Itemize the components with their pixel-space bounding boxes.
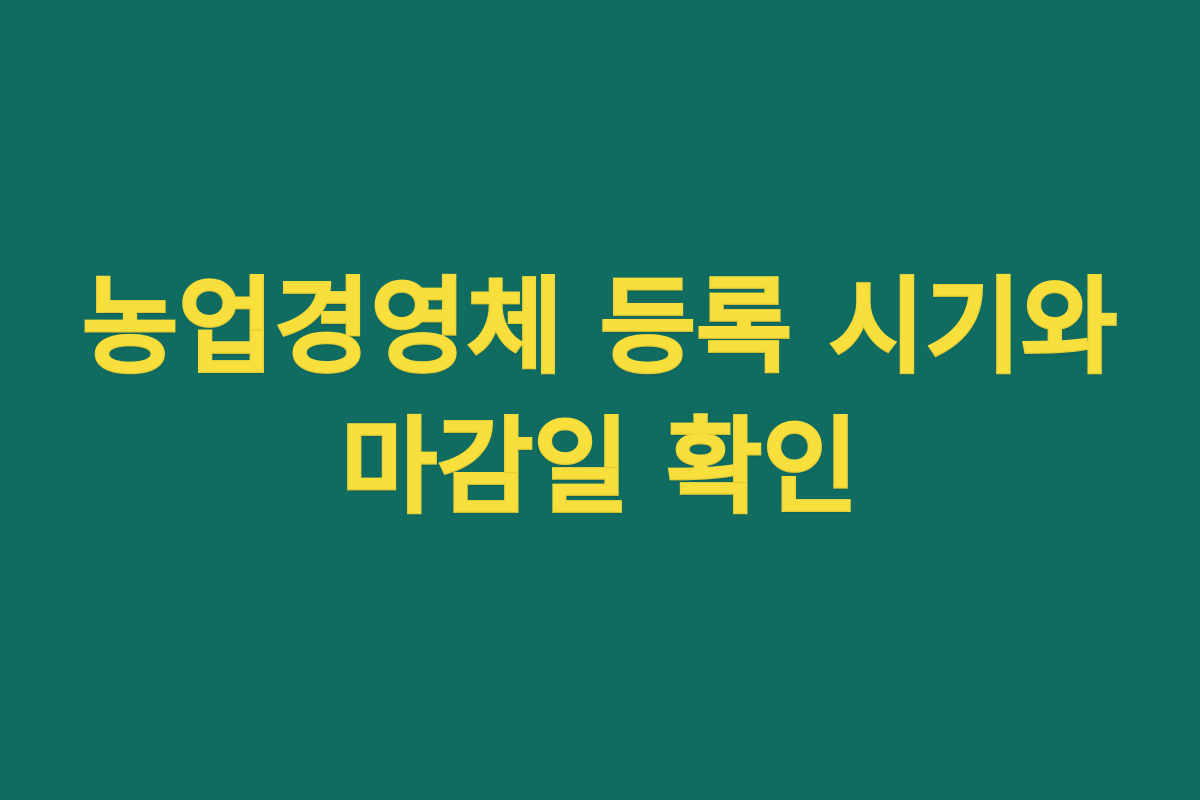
title-line-2: 마감일 확인 xyxy=(0,397,1200,537)
page-title: 농업경영체 등록 시기와 마감일 확인 xyxy=(0,257,1200,538)
title-card-banner: 농업경영체 등록 시기와 마감일 확인 xyxy=(0,0,1200,800)
title-line-1: 농업경영체 등록 시기와 xyxy=(0,257,1200,397)
